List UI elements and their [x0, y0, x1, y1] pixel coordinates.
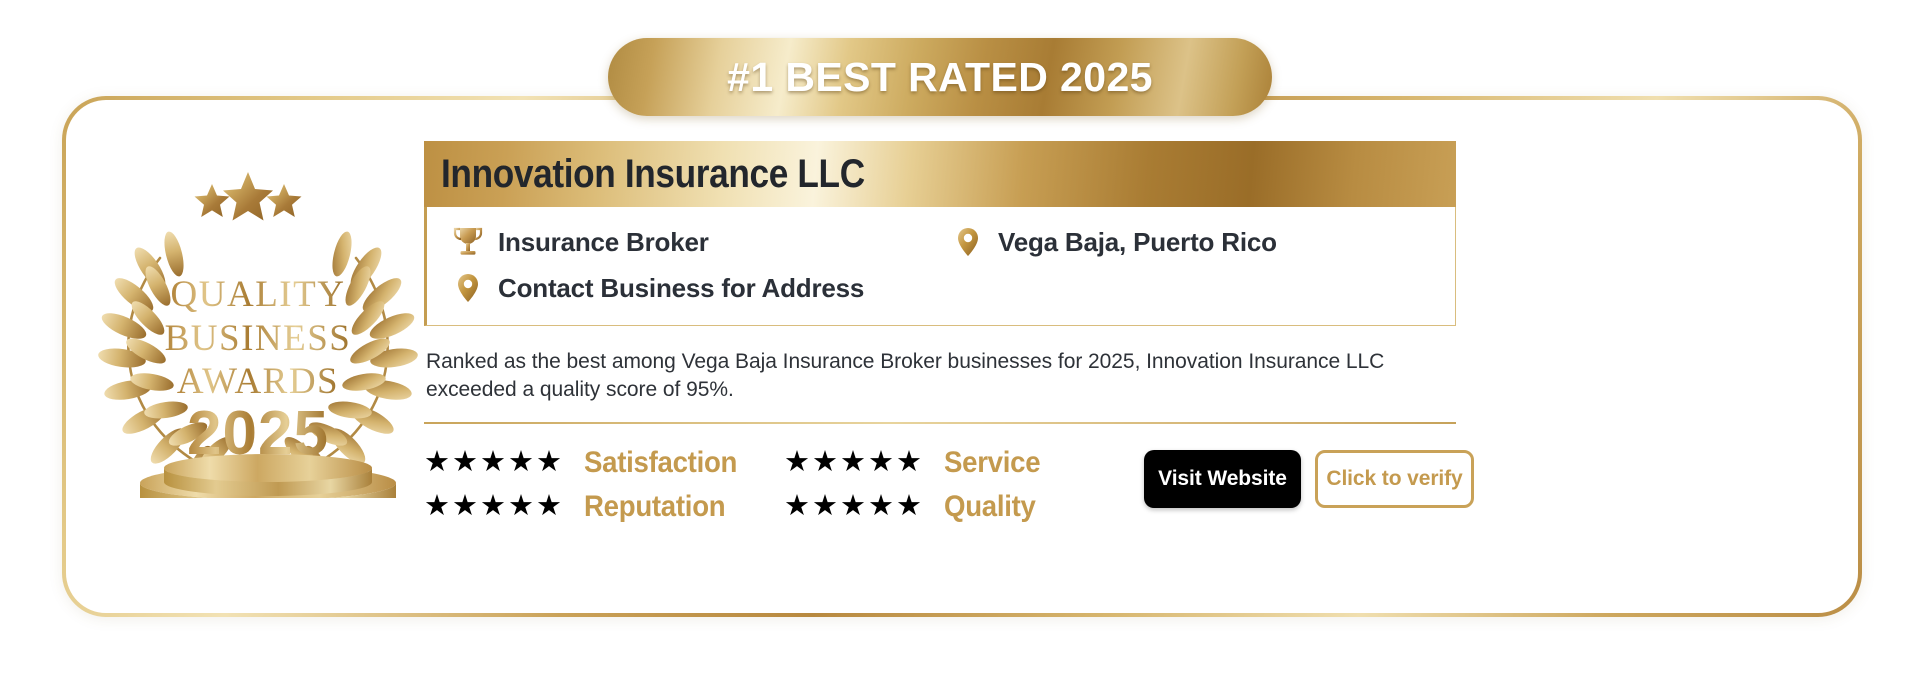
rating-stars: ★★★★★: [424, 492, 584, 521]
award-badge-screenshot: #1 BEST RATED 2025: [0, 0, 1920, 674]
section-divider: [424, 422, 1456, 424]
map-pin-icon: [453, 271, 483, 305]
business-location: Vega Baja, Puerto Rico: [947, 225, 1277, 259]
info-row-secondary: Contact Business for Address: [427, 265, 1455, 311]
business-category-label: Insurance Broker: [498, 227, 709, 258]
business-name-bar: Innovation Insurance LLC: [424, 141, 1456, 207]
emblem-line-3: AWARDS: [177, 361, 339, 402]
action-buttons: Visit Website Click to verify: [1144, 446, 1474, 508]
business-info-box: Insurance Broker: [424, 207, 1456, 326]
rating-stars: ★★★★★: [784, 448, 944, 477]
business-category: Insurance Broker: [427, 225, 947, 259]
laurel-wreath-icon: QUALITY BUSINESS AWARDS 2025: [78, 158, 438, 498]
business-address: Contact Business for Address: [427, 271, 947, 305]
business-address-label: Contact Business for Address: [498, 273, 864, 304]
click-to-verify-button[interactable]: Click to verify: [1315, 450, 1474, 508]
map-pin-icon: [953, 225, 983, 259]
ratings-and-actions: ★★★★★ Satisfaction ★★★★★ Service ★★★★★ R…: [424, 446, 1456, 524]
rating-label-satisfaction: Satisfaction: [584, 446, 768, 480]
business-description: Ranked as the best among Vega Baja Insur…: [424, 348, 1456, 404]
best-rated-ribbon: #1 BEST RATED 2025: [608, 38, 1272, 116]
rating-label-service: Service: [944, 446, 1128, 480]
info-row-primary: Insurance Broker: [427, 219, 1455, 265]
quality-business-awards-emblem: QUALITY BUSINESS AWARDS 2025: [78, 158, 438, 498]
business-details-panel: Innovation Insurance LLC: [424, 141, 1456, 524]
business-location-label: Vega Baja, Puerto Rico: [998, 227, 1277, 258]
ribbon-label: #1 BEST RATED 2025: [727, 54, 1153, 101]
emblem-line-2: BUSINESS: [165, 318, 352, 359]
three-stars-icon: [195, 172, 302, 221]
business-name: Innovation Insurance LLC: [441, 152, 865, 197]
emblem-line-1: QUALITY: [171, 274, 346, 315]
ratings-grid: ★★★★★ Satisfaction ★★★★★ Service ★★★★★ R…: [424, 446, 1144, 524]
rating-stars: ★★★★★: [784, 492, 944, 521]
rating-stars: ★★★★★: [424, 448, 584, 477]
rating-label-reputation: Reputation: [584, 490, 768, 524]
visit-website-button[interactable]: Visit Website: [1144, 450, 1301, 508]
rating-label-quality: Quality: [944, 490, 1128, 524]
trophy-icon: [453, 225, 483, 259]
